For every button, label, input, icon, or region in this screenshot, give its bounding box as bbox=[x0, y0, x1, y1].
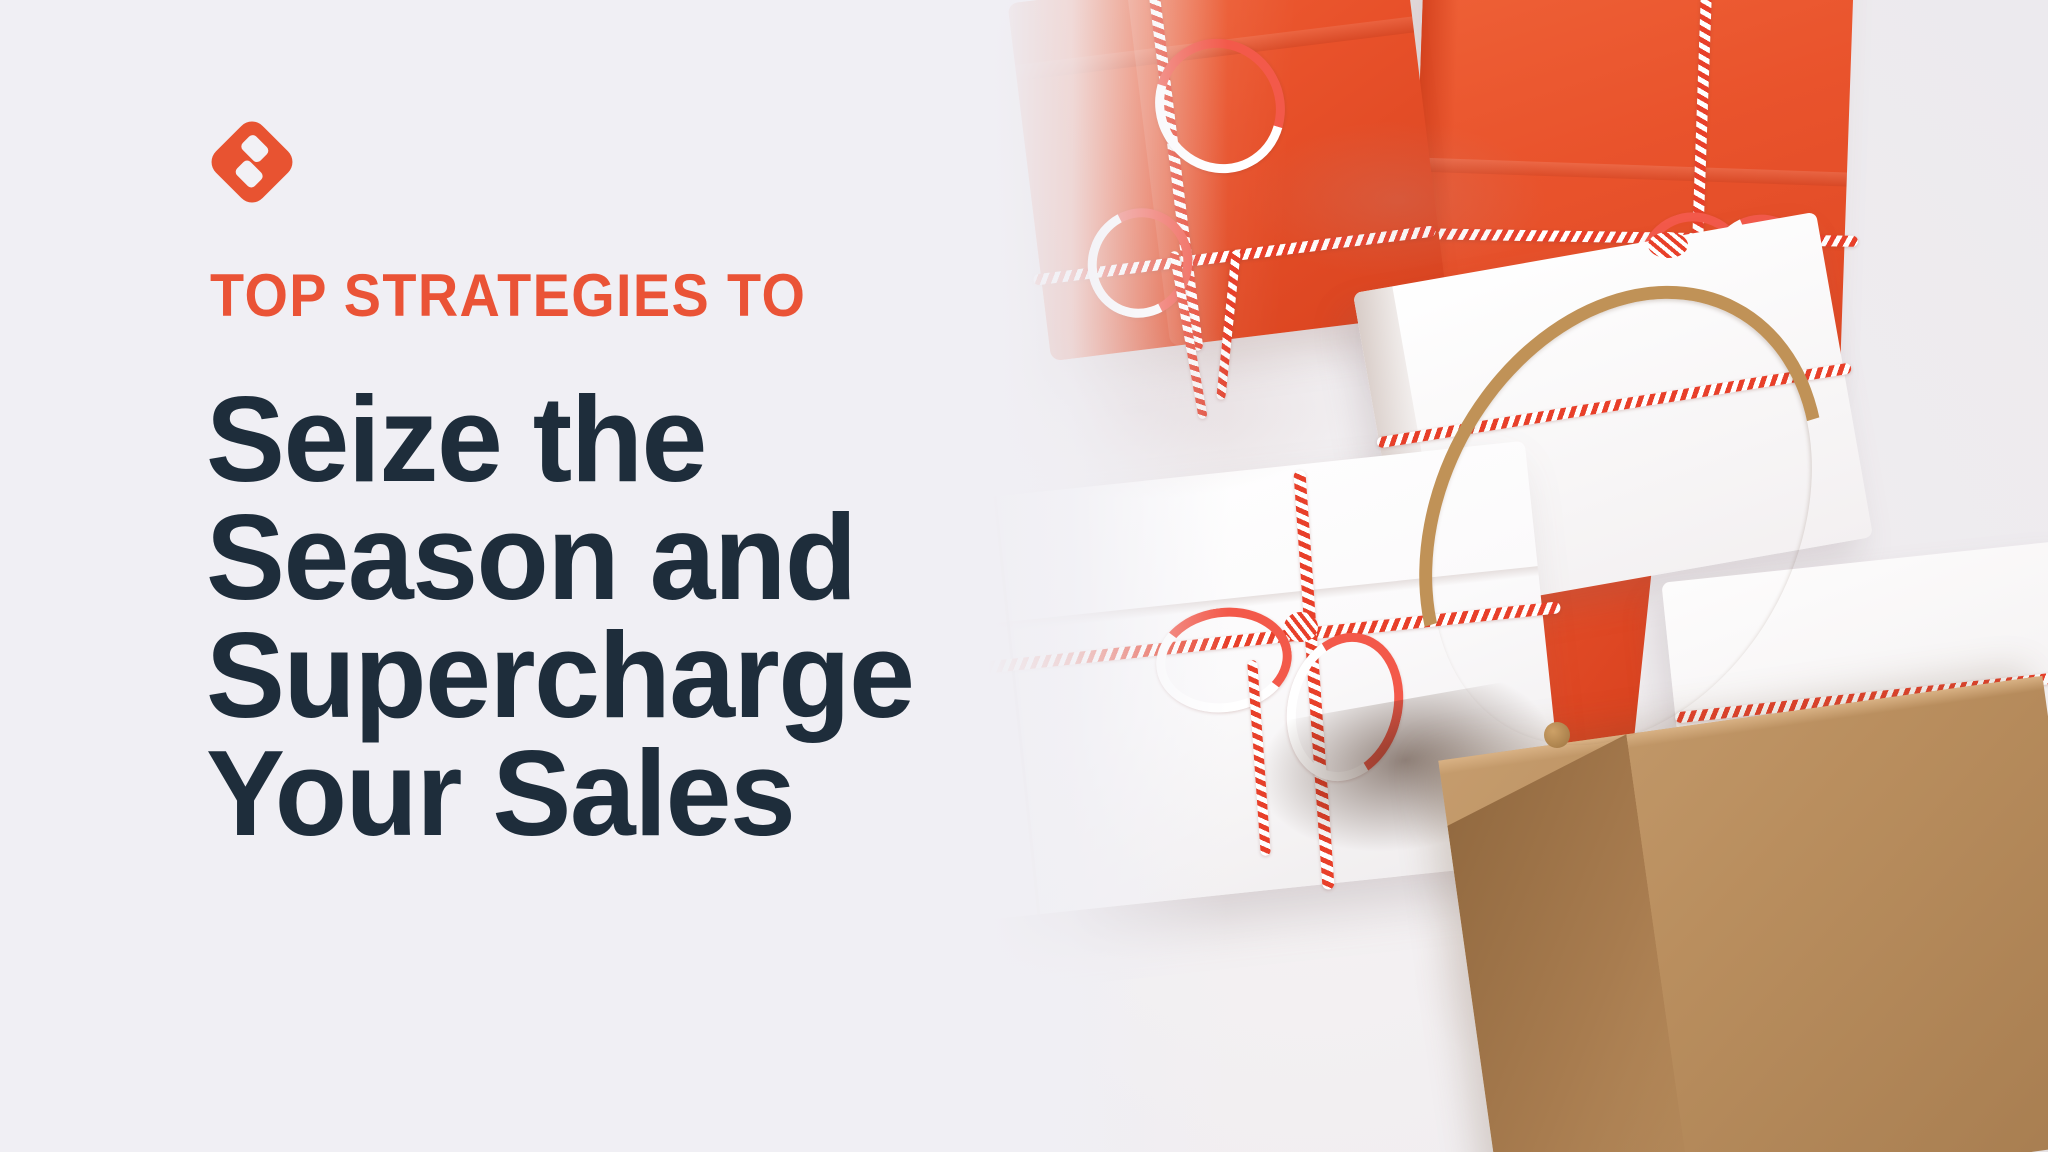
twine-knot bbox=[1648, 232, 1688, 258]
rope-eyelet bbox=[1544, 722, 1570, 748]
diamond-logo-icon[interactable] bbox=[208, 118, 296, 206]
page-title: Seize the Season and Supercharge Your Sa… bbox=[206, 380, 935, 852]
logo-diamond-shape bbox=[205, 115, 298, 208]
logo-cut-top bbox=[239, 133, 270, 164]
hero-banner: TOP STRATEGIES TO Seize the Season and S… bbox=[0, 0, 2048, 1152]
logo-cut-bottom bbox=[234, 158, 265, 189]
ambient-shadow bbox=[1248, 120, 1548, 280]
headline-line-4: Your Sales bbox=[206, 734, 913, 852]
text-panel: TOP STRATEGIES TO Seize the Season and S… bbox=[0, 0, 1150, 1152]
bag-gusset bbox=[1438, 734, 1692, 1152]
headline-line-1: Seize the bbox=[206, 380, 913, 498]
eyebrow-text: TOP STRATEGIES TO bbox=[210, 266, 806, 326]
headline-line-3: Supercharge bbox=[206, 616, 913, 734]
twine-knot bbox=[1284, 612, 1318, 642]
headline-line-2: Season and bbox=[206, 498, 913, 616]
